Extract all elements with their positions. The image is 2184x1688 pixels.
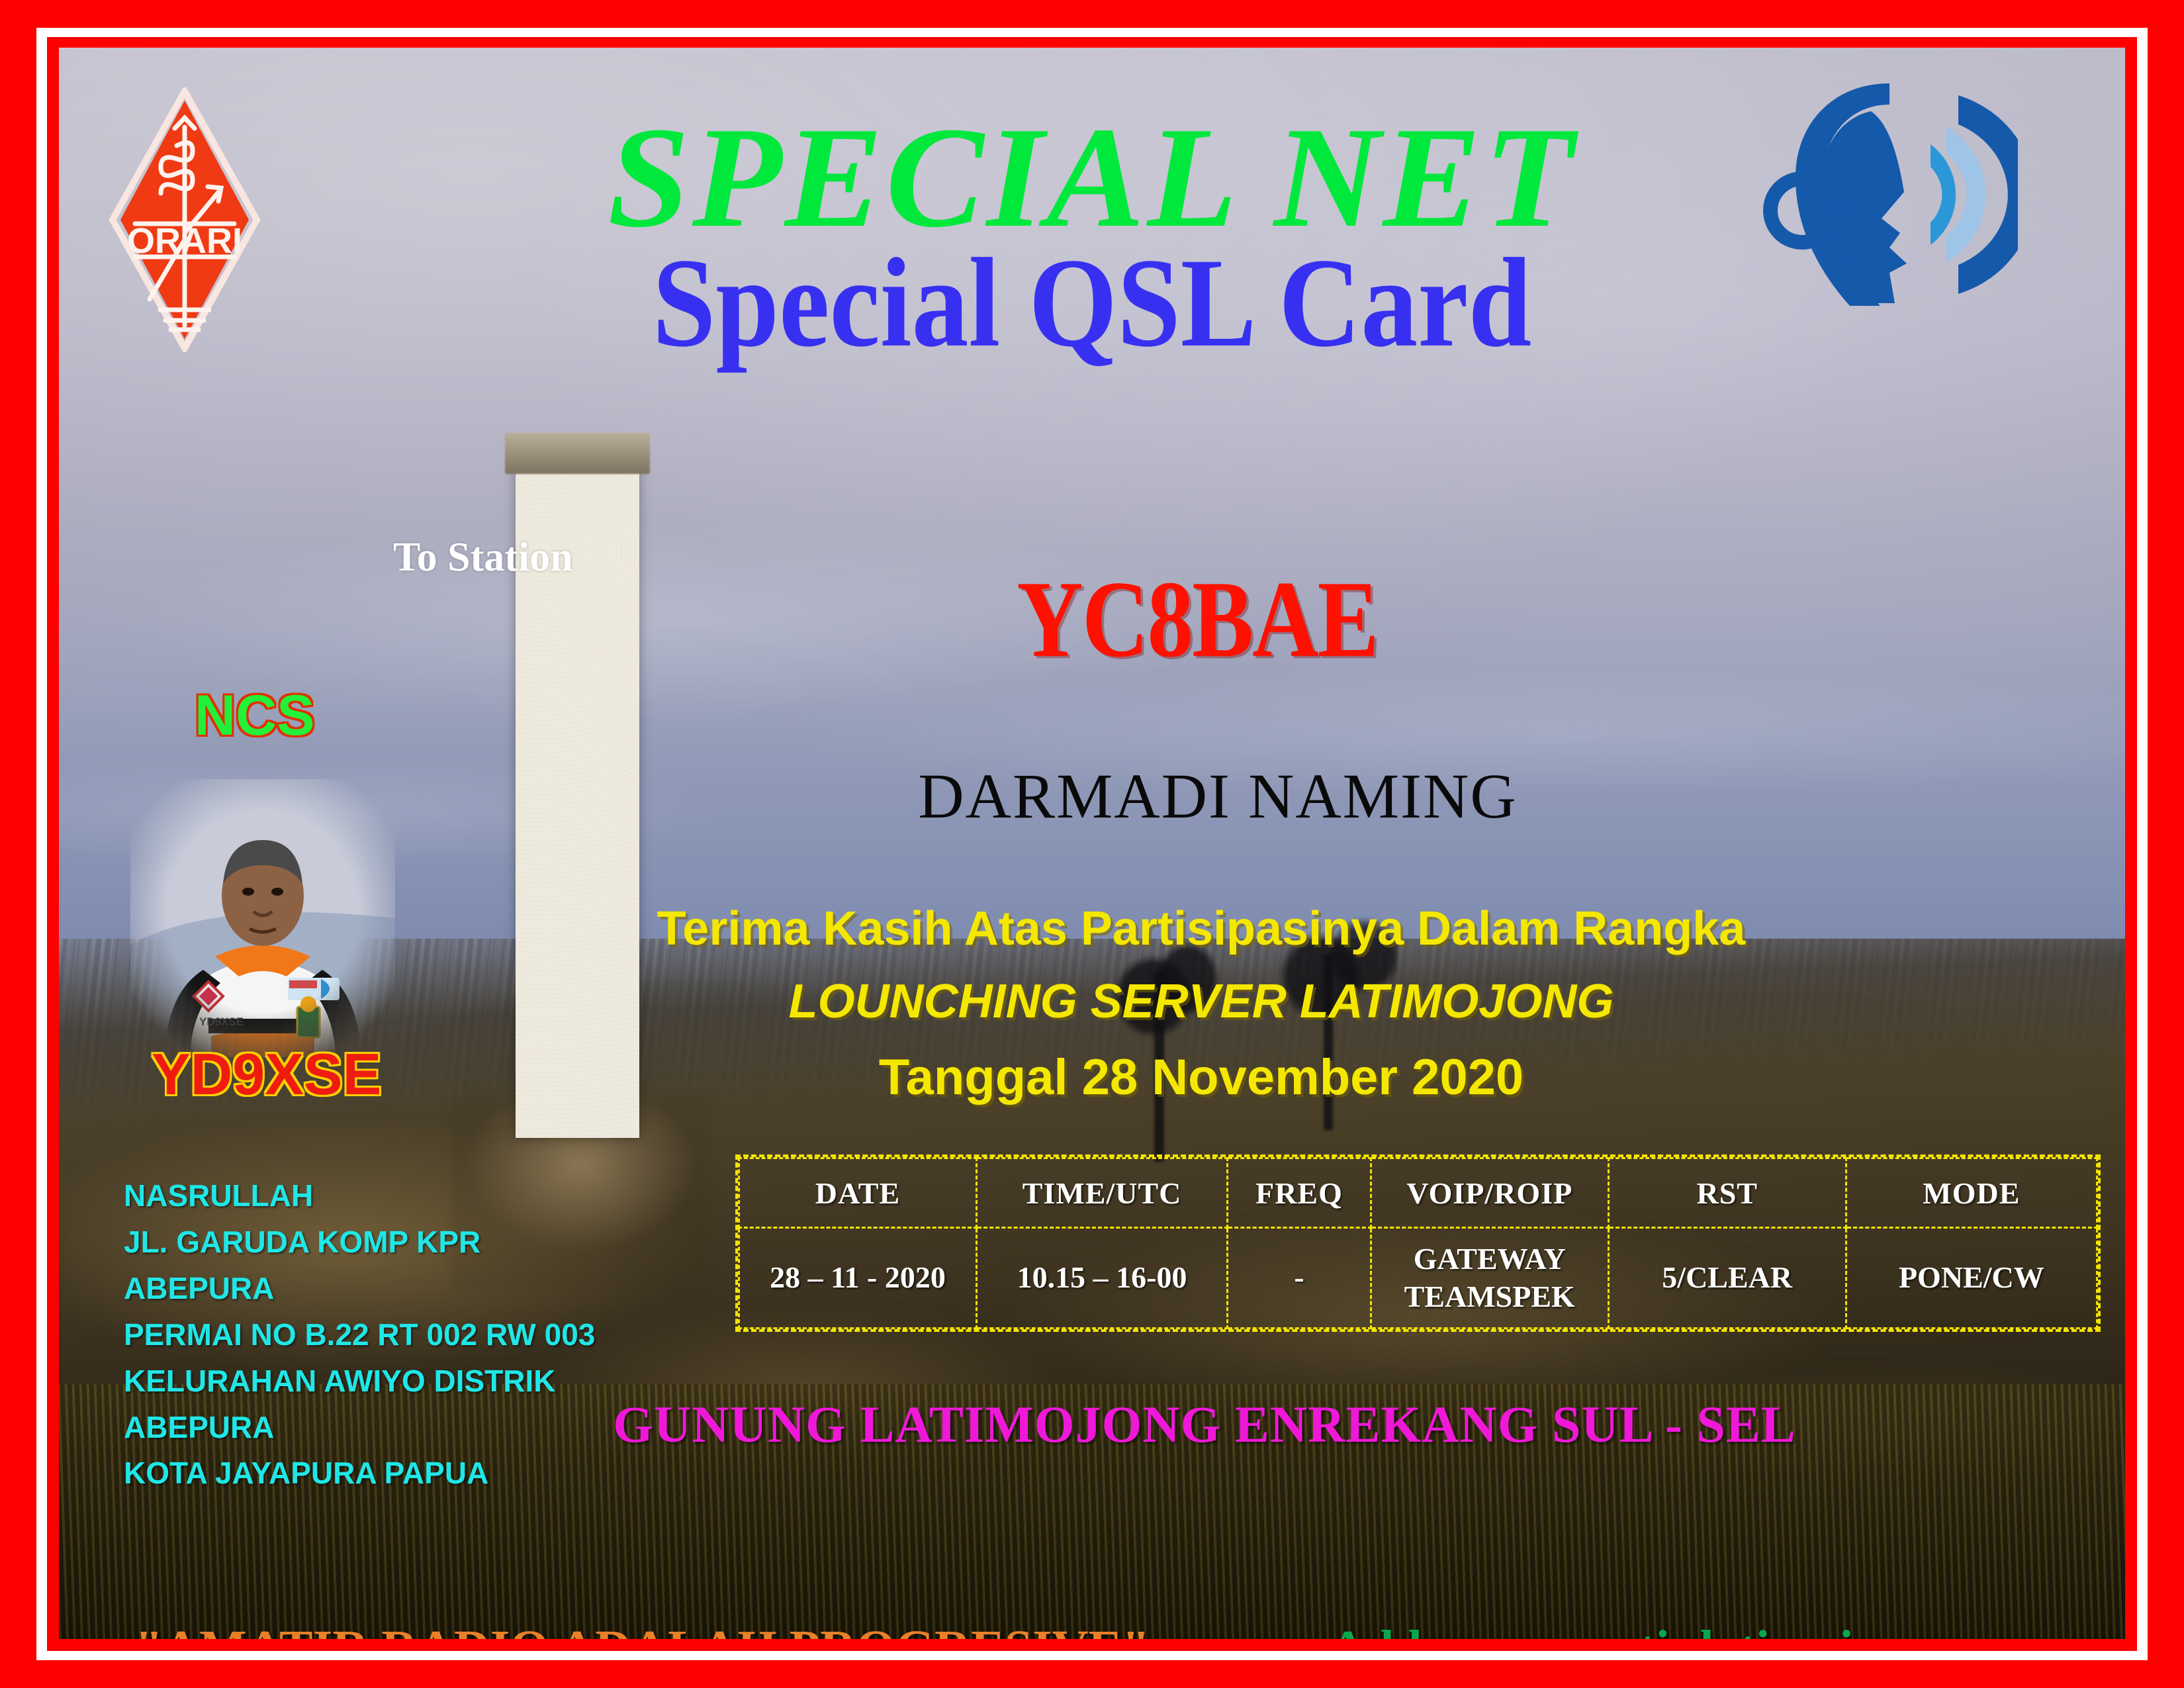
table-row: 28 – 11 - 2020 10.15 – 16-00 - GATEWAY T… [739, 1228, 2097, 1329]
location-line: GUNUNG LATIMOJONG ENREKANG SUL - SEL [59, 1395, 2125, 1454]
background-photograph: ORARI SPECIAL NET [59, 48, 2125, 1639]
cell-voip-line-2: TEAMSPEK [1372, 1278, 1608, 1315]
table-header-row: DATE TIME/UTC FREQ VOIP/ROIP RST MODE [739, 1158, 2097, 1228]
column-header-freq: FREQ [1228, 1158, 1371, 1228]
footer-web-address: Address : amatir.latimojong.com [1330, 1620, 2034, 1639]
ncs-label: NCS [195, 683, 315, 749]
qso-log-table: DATE TIME/UTC FREQ VOIP/ROIP RST MODE 28… [735, 1154, 2101, 1332]
to-station-label: To Station [393, 534, 573, 581]
address-line: KOTA JAYAPURA PAPUA [124, 1450, 595, 1497]
cell-voip: GATEWAY TEAMSPEK [1371, 1228, 1608, 1329]
cell-voip-line-1: GATEWAY [1372, 1241, 1608, 1278]
qsl-card: ORARI SPECIAL NET [0, 0, 2184, 1688]
card-frame-inner-red: ORARI SPECIAL NET [47, 37, 2137, 1651]
page-subtitle: Special QSL Card [59, 240, 2125, 367]
cell-freq: - [1228, 1228, 1371, 1329]
monument-cap [505, 433, 650, 475]
thanks-message: Terima Kasih Atas Partisipasinya Dalam R… [59, 902, 2125, 956]
address-line: NASRULLAH [124, 1173, 595, 1219]
cell-mode: PONE/CW [1846, 1228, 2097, 1329]
column-header-date: DATE [739, 1158, 977, 1228]
operator-name: DARMADI NAMING [59, 759, 2125, 833]
station-callsign: YC8BAE [1017, 565, 1377, 675]
card-frame-white-gap: ORARI SPECIAL NET [36, 28, 2148, 1660]
address-line: ABEPURA [124, 1266, 595, 1312]
column-header-mode: MODE [1846, 1158, 2097, 1228]
event-occasion: LOUNCHING SERVER LATIMOJONG [59, 974, 2125, 1029]
page-title: SPECIAL NET [59, 106, 2125, 250]
event-date: Tanggal 28 November 2020 [59, 1049, 2125, 1106]
column-header-time: TIME/UTC [976, 1158, 1227, 1228]
cell-time: 10.15 – 16-00 [976, 1228, 1227, 1329]
column-header-rst: RST [1608, 1158, 1846, 1228]
column-header-voip: VOIP/ROIP [1371, 1158, 1608, 1228]
address-line: PERMAI NO B.22 RT 002 RW 003 [124, 1312, 595, 1358]
cell-date: 28 – 11 - 2020 [739, 1228, 977, 1329]
footer-motto: "AMATIR RADIO ADALAH PROGRESIVE" [135, 1620, 1150, 1639]
cell-rst: 5/CLEAR [1608, 1228, 1846, 1329]
address-line: JL. GARUDA KOMP KPR [124, 1219, 595, 1266]
